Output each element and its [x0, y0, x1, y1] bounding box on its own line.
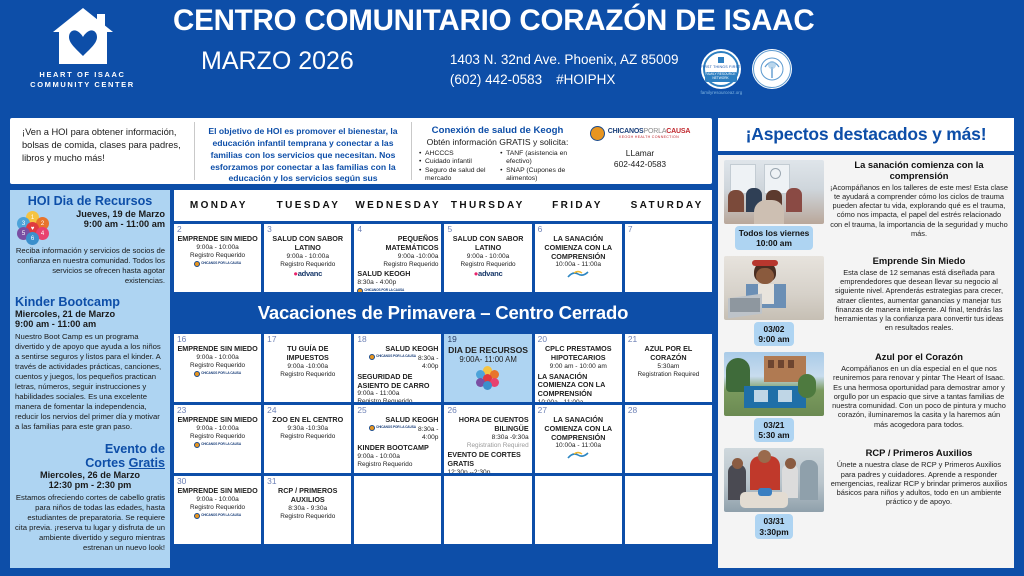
calendar-day-cell[interactable]: 4PEQUEÑOS MATEMÁTICOS9:00a -10:00aRegist… — [354, 224, 441, 292]
page-header: HEART OF ISAAC COMMUNITY CENTER CENTRO C… — [0, 0, 1024, 112]
event-time: 9:00a - 10:00a — [267, 253, 348, 261]
event-logo-holder: CHICANOS POR LA CAUSA — [177, 513, 258, 523]
calendar-event[interactable]: EVENTO DE CORTES GRATIS12:30p --2:30p — [447, 451, 528, 473]
calendar-day-cell[interactable]: 31RCP / PRIMEROS AUXILIOS8:30a - 9:30aRe… — [264, 476, 351, 544]
highlight-text: Azul por el Corazón Acompáñanos en un dí… — [830, 352, 1008, 442]
event-logo-holder: CHICANOS POR LA CAUSA — [177, 261, 258, 271]
calendar-day-cell[interactable] — [535, 476, 622, 544]
event-registration-note: Registro Requerido — [267, 513, 348, 521]
page-title: CENTRO COMUNITARIO CORAZÓN DE ISAAC — [165, 4, 1024, 38]
section-title: HOI Dia de Recursos — [15, 194, 165, 208]
highlight-date-line1: 03/02 — [758, 324, 789, 334]
section-body: Nuestro Boot Camp es un programa diverti… — [15, 332, 165, 432]
blue-community-building-photo — [724, 352, 824, 416]
cplc-name-2: POR — [644, 128, 659, 135]
event-registration-note: Registro Requerido — [267, 371, 348, 379]
event-title: DIA DE RECURSOS — [447, 345, 528, 355]
call-number: 602-442-0583 — [576, 159, 704, 170]
day-cell-body: SALUD CON SABOR LATINO9:00a - 10:00aRegi… — [447, 226, 528, 280]
day-cell-body: CPLC PRESTAMOS HIPOTECARIOS9:00 am - 10:… — [538, 336, 619, 402]
day-number: 24 — [267, 405, 276, 415]
list-item: Seguro de salud del mercado — [419, 167, 492, 184]
day-header-tuesday: TUESDAY — [264, 190, 354, 221]
event-registration-note: Registro Requerido — [177, 504, 258, 512]
highlight-text: La sanación comienza con la comprensión … — [830, 160, 1008, 250]
event-title: LA SANACIÓN COMIENZA CON LA COMPRENSIÓN — [538, 373, 619, 399]
month-title: MARZO 2026 — [165, 47, 354, 76]
calendar-event[interactable]: TU GUÍA DE IMPUESTOS9:00a -10:00aRegistr… — [267, 345, 348, 378]
cplc-logo-icon: CHICANOS POR LA CAUSA — [194, 513, 241, 519]
highlight-date-line2: 9:00 am — [758, 334, 789, 344]
calendar-day-cell[interactable]: 26HORA DE CUENTOS BILINGÜE8:30a -9:30aRe… — [444, 405, 531, 473]
day-number: 17 — [267, 334, 276, 344]
highlight-date-line2: 5:30 am — [758, 430, 789, 440]
day-number: 21 — [628, 334, 637, 344]
event-title: SEGURIDAD DE ASIENTO DE CARRO — [357, 373, 438, 391]
day-cell-body: SALUD CON SABOR LATINO9:00a - 10:00aRegi… — [267, 226, 348, 280]
highlight-title: RCP / Primeros Auxilios — [830, 448, 1008, 459]
section-title: Kinder Bootcamp — [15, 295, 165, 309]
resource-bubbles-icon: 1 2 3 ♥ 4 5 6 — [15, 211, 51, 243]
logo-text-line-2: COMMUNITY CENTER — [30, 80, 135, 89]
day-cell-body: SALUD KEOGHCHICANOS POR LA CAUSA8:30a - … — [357, 336, 438, 402]
gratis-word: Gratis — [129, 456, 165, 470]
keogh-subtitle: Obtén información GRATIS y solicita: — [419, 137, 576, 147]
cplc-name-4: CAUSA — [666, 128, 690, 135]
highlights-header: ¡Aspectos destacados y más! — [718, 118, 1014, 151]
calendar-event[interactable]: PEQUEÑOS MATEMÁTICOS9:00a -10:00aRegistr… — [357, 235, 438, 268]
contact-info: 1403 N. 32nd Ave. Phoenix, AZ 85009 (602… — [450, 50, 679, 89]
calendar-day-cell[interactable]: 16EMPRENDE SIN MIEDO9:00a - 10:00aRegist… — [174, 334, 261, 402]
event-logo-holder: CHICANOS POR LA CAUSA — [357, 288, 438, 292]
cplc-logo-icon: CHICANOS POR LA CAUSA — [194, 261, 241, 267]
calendar-event[interactable]: LA SANACIÓN COMIENZA CON LA COMPRENSIÓN1… — [538, 235, 619, 283]
calendar-day-cell[interactable]: 28 — [625, 405, 712, 473]
left-sidebar: HOI Dia de Recursos 1 2 3 ♥ 4 5 6 Jueves… — [10, 190, 170, 568]
day-number: 18 — [357, 334, 366, 344]
highlight-date-badge: Todos los viernes 10:00 am — [735, 226, 814, 250]
day-number: 5 — [447, 224, 452, 234]
day-cell-body: EMPRENDE SIN MIEDO9:00a - 10:00aRegistro… — [177, 226, 258, 270]
resource-day-datetime: Jueves, 19 de Marzo 9:00 am - 11:00 am — [54, 209, 165, 229]
calendar-day-cell[interactable]: 18SALUD KEOGHCHICANOS POR LA CAUSA8:30a … — [354, 334, 441, 402]
day-cell-body: HORA DE CUENTOS BILINGÜE8:30a -9:30aRegi… — [447, 407, 528, 473]
cplc-logo-icon: CHICANOS POR LA CAUSA — [369, 425, 416, 431]
highlight-text: RCP / Primeros Auxilios Únete a nuestra … — [830, 448, 1008, 538]
day-number: 19 — [447, 334, 456, 344]
calendar-event[interactable]: HORA DE CUENTOS BILINGÜE8:30a -9:30aRegi… — [447, 416, 528, 449]
section-body: Reciba información y servicios de socios… — [15, 246, 165, 286]
calendar-day-cell[interactable]: 5SALUD CON SABOR LATINO9:00a - 10:00aReg… — [444, 224, 531, 292]
day-cell-body: TU GUÍA DE IMPUESTOS9:00a -10:00aRegistr… — [267, 336, 348, 378]
event-title: AZUL POR EL CORAZÓN — [628, 345, 709, 363]
day-header-wednesday: WEDNESDAY — [353, 190, 443, 221]
calendar-event[interactable]: LA SANACIÓN COMIENZA CON LA COMPRENSIÓN1… — [538, 416, 619, 464]
calendar-event[interactable]: SALUD CON SABOR LATINO9:00a - 10:00aRegi… — [267, 235, 348, 280]
section-time: 12:30 pm - 2:30 pm — [15, 480, 165, 490]
logo-text-line-1: HEART OF ISAAC — [39, 70, 125, 79]
calendar-day-cell[interactable]: 19DIA DE RECURSOS9:00A- 11:00 AM — [444, 334, 531, 402]
call-label: LLamar — [576, 148, 704, 159]
cortes-word: Cortes — [85, 456, 128, 470]
event-time: 9:00a - 10:00a — [177, 244, 258, 252]
event-title: ZOO EN EL CENTRO — [267, 416, 348, 425]
day-header-friday: FRIDAY — [533, 190, 623, 221]
isaac-school-district-logo-icon — [752, 49, 792, 89]
event-time: 9:30a -10:30a — [267, 425, 348, 433]
highlight-date-line1: 03/21 — [758, 420, 789, 430]
calendar-day-cell[interactable] — [354, 476, 441, 544]
event-time: 9:00a - 10:00a — [357, 453, 438, 461]
event-time: 9:00a -10:00a — [357, 253, 438, 261]
event-time: 10:00a - 11:00a — [538, 261, 619, 269]
calendar-day-cell[interactable]: 6LA SANACIÓN COMIENZA CON LA COMPRENSIÓN… — [535, 224, 622, 292]
section-time: 9:00 am - 11:00 am — [54, 219, 165, 229]
highlight-media: 03/02 9:00 am — [724, 256, 824, 346]
highlight-date-line2: 3:30pm — [759, 527, 788, 537]
day-cell-body: LA SANACIÓN COMIENZA CON LA COMPRENSIÓN1… — [538, 407, 619, 464]
section-body: Estamos ofreciendo cortes de cabello gra… — [15, 493, 165, 553]
highlight-item: 03/02 9:00 am Emprende Sin Miedo Esta cl… — [724, 256, 1008, 346]
event-registration-note: Registro Requerido — [177, 362, 258, 370]
highlight-body: ¡Acompáñanos en los talleres de este mes… — [830, 183, 1008, 239]
calendar-day-cell[interactable]: 21AZUL POR EL CORAZÓN5:30amRegistration … — [625, 334, 712, 402]
calendar-day-cell[interactable]: 7 — [625, 224, 712, 292]
event-time: 10:00a - 11:00a — [538, 442, 619, 450]
spring-break-text: Vacaciones de Primavera – Centro Cerrado — [258, 302, 628, 324]
highlight-body: Acompáñanos en un día especial en el que… — [830, 364, 1008, 429]
event-title: SALUD KEOGH — [357, 270, 438, 279]
highlight-date-badge: 03/21 5:30 am — [754, 418, 793, 442]
day-number: 30 — [177, 476, 186, 486]
event-time: 10:00a - 11:00a — [538, 399, 619, 402]
event-title: SALUD KEOGH — [357, 345, 438, 354]
keogh-list-left: AHCCCS Cuidado infantil Seguro de salud … — [419, 150, 492, 184]
cplc-logo-icon: CHICANOS POR LA CAUSA — [194, 442, 241, 448]
section-title-line2: Cortes Gratis — [15, 456, 165, 470]
day-header-monday: MONDAY — [174, 190, 264, 221]
event-registration-note: Registro Requerido — [177, 252, 258, 260]
day-cell-body: EMPRENDE SIN MIEDO9:00a - 10:00aRegistro… — [177, 407, 258, 451]
house-heart-logo-icon — [51, 6, 115, 68]
day-number: 16 — [177, 334, 186, 344]
welcome-text: ¡Ven a HOI para obtener información, bol… — [16, 122, 194, 180]
hoi-logo-block: HEART OF ISAAC COMMUNITY CENTER — [0, 0, 165, 89]
highlight-media: 03/21 5:30 am — [724, 352, 824, 442]
event-logo-holder: CHICANOS POR LA CAUSA — [177, 371, 258, 381]
hashtag: #HOIPHX — [556, 72, 615, 87]
header-subrow: MARZO 2026 1403 N. 32nd Ave. Phoenix, AZ… — [165, 47, 1024, 95]
keogh-health-connection-block: Conexión de salud de Keogh Obtén informa… — [412, 122, 706, 180]
calendar-event[interactable]: RCP / PRIMEROS AUXILIOS8:30a - 9:30aRegi… — [267, 487, 348, 520]
calendar-day-cell[interactable]: 24ZOO EN EL CENTRO9:30a -10:30aRegistro … — [264, 405, 351, 473]
sidebar-section-cortes-gratis: Evento de Cortes Gratis Miercoles, 26 de… — [15, 442, 165, 553]
event-registration-note: Registro Requerido — [447, 261, 528, 269]
wave-logo-icon — [567, 451, 589, 460]
calendar-day-cell[interactable]: 23EMPRENDE SIN MIEDO9:00a - 10:00aRegist… — [174, 405, 261, 473]
calendar-week-row: 16EMPRENDE SIN MIEDO9:00a - 10:00aRegist… — [174, 334, 712, 402]
event-title: TU GUÍA DE IMPUESTOS — [267, 345, 348, 363]
event-title: HORA DE CUENTOS BILINGÜE — [447, 416, 528, 434]
event-logo-holder: ●advanc — [447, 269, 528, 280]
cplc-logo-icon: CHICANOS POR LA CAUSA — [194, 371, 241, 377]
event-time: 9:00 am - 10:00 am — [538, 363, 619, 371]
day-cell-body: EMPRENDE SIN MIEDO9:00a - 10:00aRegistro… — [177, 336, 258, 380]
first-things-first-logo-wrap: FIRST THINGS FIRST FAMILY RESOURCENETWOR… — [701, 49, 743, 95]
event-logo-holder: CHICANOS POR LA CAUSA — [177, 442, 258, 452]
cplc-logo-icon: CHICANOS POR LA CAUSA — [357, 288, 404, 292]
highlight-item: 03/21 5:30 am Azul por el Corazón Acompá… — [724, 352, 1008, 442]
event-title: EMPRENDE SIN MIEDO — [177, 235, 258, 244]
section-date: Miercoles, 21 de Marzo — [15, 309, 165, 319]
address-line: 1403 N. 32nd Ave. Phoenix, AZ 85009 — [450, 50, 679, 70]
event-title: SALUD CON SABOR LATINO — [267, 235, 348, 253]
highlight-media: 03/31 3:30pm — [724, 448, 824, 538]
day-number: 4 — [357, 224, 362, 234]
cplc-logo-icon: CHICANOSPORLACAUSA KEOGH HEALTH CONNECTI… — [576, 126, 704, 141]
group-therapy-circle-photo — [724, 160, 824, 224]
day-number: 20 — [538, 334, 547, 344]
calendar-day-cell[interactable]: 30EMPRENDE SIN MIEDO9:00a - 10:00aRegist… — [174, 476, 261, 544]
event-time: 9:00a -10:00a — [267, 363, 348, 371]
day-number: 25 — [357, 405, 366, 415]
calendar-day-cell[interactable]: 3SALUD CON SABOR LATINO9:00a - 10:00aReg… — [264, 224, 351, 292]
wave-logo-icon — [567, 270, 589, 279]
event-title: EVENTO DE CORTES GRATIS — [447, 451, 528, 469]
calendar-event[interactable]: SALUD KEOGHCHICANOS POR LA CAUSA8:30a - … — [357, 345, 438, 371]
advanc-logo-icon: ●advanc — [474, 269, 503, 278]
calendar-weeks: 2EMPRENDE SIN MIEDO9:00a - 10:00aRegistr… — [174, 224, 712, 544]
resource-day-row: 1 2 3 ♥ 4 5 6 Jueves, 19 de Marzo 9:00 a… — [15, 209, 165, 243]
header-title-area: CENTRO COMUNITARIO CORAZÓN DE ISAAC MARZ… — [165, 0, 1024, 95]
event-time: 9:00a - 10:00a — [447, 253, 528, 261]
day-cell-body: AZUL POR EL CORAZÓN5:30amRegistration Re… — [628, 336, 709, 378]
calendar-event[interactable]: DIA DE RECURSOS9:00A- 11:00 AM — [447, 345, 528, 388]
day-cell-body: LA SANACIÓN COMIENZA CON LA COMPRENSIÓN1… — [538, 226, 619, 283]
cplc-logo-icon: CHICANOS POR LA CAUSA — [369, 354, 416, 360]
event-registration-note: Registro Requerido — [267, 433, 348, 441]
event-title: EMPRENDE SIN MIEDO — [177, 487, 258, 496]
event-time: 8:30a - 4:00p — [357, 279, 438, 287]
highlight-body: Esta clase de 12 semanas está diseñada p… — [830, 268, 1008, 333]
event-registration-note: Registro Requerido — [357, 398, 438, 402]
day-cell-body — [538, 478, 619, 487]
list-item: Cuidado infantil — [419, 158, 492, 166]
resource-bubbles-icon — [475, 366, 501, 388]
calendar-day-cell[interactable] — [625, 476, 712, 544]
section-title-line1: Evento de — [15, 442, 165, 456]
event-time: CHICANOS POR LA CAUSA8:30a - 4:00p — [357, 425, 438, 442]
calendar-event[interactable]: ZOO EN EL CENTRO9:30a -10:30aRegistro Re… — [267, 416, 348, 441]
keogh-health-connection-sub: KEOGH HEALTH CONNECTION — [608, 135, 690, 139]
day-cell-body: EMPRENDE SIN MIEDO9:00a - 10:00aRegistro… — [177, 478, 258, 522]
calendar-event[interactable]: KINDER BOOTCAMP9:00a - 10:00aRegistro Re… — [357, 444, 438, 469]
event-logo-holder — [447, 366, 528, 388]
highlight-item: Todos los viernes 10:00 am La sanación c… — [724, 160, 1008, 250]
highlight-media: Todos los viernes 10:00 am — [724, 160, 824, 250]
highlight-date-line1: 03/31 — [759, 516, 788, 526]
highlight-item: 03/31 3:30pm RCP / Primeros Auxilios Úne… — [724, 448, 1008, 538]
calendar-event[interactable]: SALUD KEOGH8:30a - 4:00pCHICANOS POR LA … — [357, 270, 438, 292]
day-number: 6 — [538, 224, 543, 234]
section-date: Miercoles, 26 de Marzo — [15, 470, 165, 480]
event-logo-holder — [538, 270, 619, 283]
mission-text: El objetivo de HOI es promover el bienes… — [194, 122, 412, 180]
phone-number: (602) 442-0583 — [450, 72, 542, 87]
day-cell-body: RCP / PRIMEROS AUXILIOS8:30a - 9:30aRegi… — [267, 478, 348, 520]
cplc-name-1: CHICANOS — [608, 128, 644, 135]
highlight-title: Emprende Sin Miedo — [830, 256, 1008, 267]
event-title: CPLC PRESTAMOS HIPOTECARIOS — [538, 345, 619, 363]
day-number: 27 — [538, 405, 547, 415]
spring-break-banner: Vacaciones de Primavera – Centro Cerrado — [174, 295, 712, 331]
calendar-week-row: 23EMPRENDE SIN MIEDO9:00a - 10:00aRegist… — [174, 405, 712, 473]
event-time: CHICANOS POR LA CAUSA8:30a - 4:00p — [357, 354, 438, 371]
day-cell-body — [357, 478, 438, 487]
day-number: 2 — [177, 224, 182, 234]
day-cell-body — [628, 478, 709, 487]
day-cell-body: DIA DE RECURSOS9:00A- 11:00 AM — [447, 336, 528, 388]
highlight-title: Azul por el Corazón — [830, 352, 1008, 363]
event-logo-holder — [538, 451, 619, 464]
event-logo-holder: ●advanc — [267, 269, 348, 280]
event-time: 9:00a - 11:00a — [357, 390, 438, 398]
highlight-date-line1: Todos los viernes — [739, 228, 810, 238]
event-registration-note: Registration Required — [447, 442, 528, 450]
event-title: PEQUEÑOS MATEMÁTICOS — [357, 235, 438, 253]
keogh-service-lists: AHCCCS Cuidado infantil Seguro de salud … — [419, 150, 576, 184]
event-time: 8:30a - 9:30a — [267, 505, 348, 513]
event-title: LA SANACIÓN COMIENZA CON LA COMPRENSIÓN — [538, 416, 619, 442]
event-title: LA SANACIÓN COMIENZA CON LA COMPRENSIÓN — [538, 235, 619, 261]
list-item: TANF (asistencia en efectivo) — [500, 150, 576, 167]
calendar-day-header-row: MONDAY TUESDAY WEDNESDAY THURSDAY FRIDAY… — [174, 190, 712, 221]
event-registration-note: Registro Requerido — [267, 261, 348, 269]
keogh-list-right: TANF (asistencia en efectivo) SNAP (Cupo… — [500, 150, 576, 184]
event-time: 9:00A- 11:00 AM — [447, 355, 528, 365]
partner-logos: FIRST THINGS FIRST FAMILY RESOURCENETWOR… — [701, 49, 793, 95]
day-number: 26 — [447, 405, 456, 415]
event-time: 9:00a - 10:00a — [177, 354, 258, 362]
day-cell-body — [628, 226, 709, 235]
event-time: 5:30am — [628, 363, 709, 371]
event-registration-note: Registro Requerido — [357, 461, 438, 469]
calendar-day-cell[interactable]: 17TU GUÍA DE IMPUESTOS9:00a -10:00aRegis… — [264, 334, 351, 402]
day-number: 7 — [628, 224, 633, 234]
calendar-event[interactable]: AZUL POR EL CORAZÓN5:30amRegistration Re… — [628, 345, 709, 378]
day-cell-body: PEQUEÑOS MATEMÁTICOS9:00a -10:00aRegistr… — [357, 226, 438, 292]
calendar-event[interactable]: EMPRENDE SIN MIEDO9:00a - 10:00aRegistro… — [177, 345, 258, 380]
event-title: KINDER BOOTCAMP — [357, 444, 438, 453]
event-title: RCP / PRIMEROS AUXILIOS — [267, 487, 348, 505]
highlight-body: Únete a nuestra clase de RCP y Primeros … — [830, 460, 1008, 506]
chicanos-por-la-causa-block: CHICANOSPORLACAUSA KEOGH HEALTH CONNECTI… — [576, 125, 704, 184]
keogh-title: Conexión de salud de Keogh — [419, 125, 576, 136]
calendar-day-cell[interactable] — [444, 476, 531, 544]
event-time: 9:00a - 10:00a — [177, 425, 258, 433]
event-time: 9:00a - 10:00a — [177, 496, 258, 504]
highlight-date-line2: 10:00 am — [739, 238, 810, 248]
day-number: 28 — [628, 405, 637, 415]
calendar-week-row: 2EMPRENDE SIN MIEDO9:00a - 10:00aRegistr… — [174, 224, 712, 292]
event-title: SALUD CON SABOR LATINO — [447, 235, 528, 253]
woman-at-laptop-photo — [724, 256, 824, 320]
phone-hashtag-line: (602) 442-0583#HOIPHX — [450, 70, 679, 90]
highlight-text: Emprende Sin Miedo Esta clase de 12 sema… — [830, 256, 1008, 346]
list-item: SNAP (Cupones de alimentos) — [500, 167, 576, 184]
calendar-event[interactable]: LA SANACIÓN COMIENZA CON LA COMPRENSIÓN1… — [538, 373, 619, 402]
section-time: 9:00 am - 11:00 am — [15, 319, 165, 329]
calendar-week-row: 30EMPRENDE SIN MIEDO9:00a - 10:00aRegist… — [174, 476, 712, 544]
cpr-training-class-photo — [724, 448, 824, 512]
section-date: Jueves, 19 de Marzo — [54, 209, 165, 219]
calendar-event[interactable]: EMPRENDE SIN MIEDO9:00a - 10:00aRegistro… — [177, 235, 258, 270]
calendar-day-cell[interactable]: 27LA SANACIÓN COMIENZA CON LA COMPRENSIÓ… — [535, 405, 622, 473]
day-number: 23 — [177, 405, 186, 415]
event-time: 12:30p --2:30p — [447, 469, 528, 473]
day-number: 3 — [267, 224, 272, 234]
right-sidebar: Todos los viernes 10:00 am La sanación c… — [718, 155, 1014, 568]
event-title: EMPRENDE SIN MIEDO — [177, 345, 258, 354]
event-title: EMPRENDE SIN MIEDO — [177, 416, 258, 425]
day-cell-body — [628, 407, 709, 416]
calendar-event[interactable]: EMPRENDE SIN MIEDO9:00a - 10:00aRegistro… — [177, 416, 258, 451]
day-header-thursday: THURSDAY — [443, 190, 533, 221]
calendar-event[interactable]: SEGURIDAD DE ASIENTO DE CARRO9:00a - 11:… — [357, 373, 438, 402]
event-title: SALUD KEOGH — [357, 416, 438, 425]
day-number: 31 — [267, 476, 276, 486]
calendar-event[interactable]: EMPRENDE SIN MIEDO9:00a - 10:00aRegistro… — [177, 487, 258, 522]
day-cell-body: ZOO EN EL CENTRO9:30a -10:30aRegistro Re… — [267, 407, 348, 441]
info-banner: ¡Ven a HOI para obtener información, bol… — [10, 118, 712, 184]
day-cell-body — [447, 478, 528, 487]
event-registration-note: Registro Requerido — [177, 433, 258, 441]
calendar-event[interactable]: CPLC PRESTAMOS HIPOTECARIOS9:00 am - 10:… — [538, 345, 619, 371]
event-time: 8:30a -9:30a — [447, 434, 528, 442]
sidebar-section-kinder-bootcamp: Kinder Bootcamp Miercoles, 21 de Marzo 9… — [15, 295, 165, 432]
event-registration-note: Registration Required — [628, 371, 709, 379]
highlight-date-badge: 03/02 9:00 am — [754, 322, 793, 346]
day-cell-body: SALUD KEOGHCHICANOS POR LA CAUSA8:30a - … — [357, 407, 438, 468]
call-block: LLamar 602-442-0583 — [576, 148, 704, 170]
calendar-day-cell[interactable]: 2EMPRENDE SIN MIEDO9:00a - 10:00aRegistr… — [174, 224, 261, 292]
highlight-title: La sanación comienza con la comprensión — [830, 160, 1008, 182]
calendar-day-cell[interactable]: 20CPLC PRESTAMOS HIPOTECARIOS9:00 am - 1… — [535, 334, 622, 402]
highlights-heading: ¡Aspectos destacados y más! — [746, 124, 987, 145]
calendar-day-cell[interactable]: 25SALUD KEOGHCHICANOS POR LA CAUSA8:30a … — [354, 405, 441, 473]
sidebar-section-dia-de-recursos: HOI Dia de Recursos 1 2 3 ♥ 4 5 6 Jueves… — [15, 194, 165, 286]
event-registration-note: Registro Requerido — [357, 261, 438, 269]
list-item: AHCCCS — [419, 150, 492, 158]
ftf-caption: familyresourceaz.org — [701, 90, 743, 95]
calendar-event[interactable]: SALUD CON SABOR LATINO9:00a - 10:00aRegi… — [447, 235, 528, 280]
day-header-saturday: SATURDAY — [622, 190, 712, 221]
calendar: MONDAY TUESDAY WEDNESDAY THURSDAY FRIDAY… — [174, 190, 712, 568]
highlight-date-badge: 03/31 3:30pm — [755, 514, 792, 538]
advanc-logo-icon: ●advanc — [293, 269, 322, 278]
calendar-event[interactable]: SALUD KEOGHCHICANOS POR LA CAUSA8:30a - … — [357, 416, 438, 442]
first-things-first-logo-icon: FIRST THINGS FIRST FAMILY RESOURCENETWOR… — [701, 49, 741, 89]
